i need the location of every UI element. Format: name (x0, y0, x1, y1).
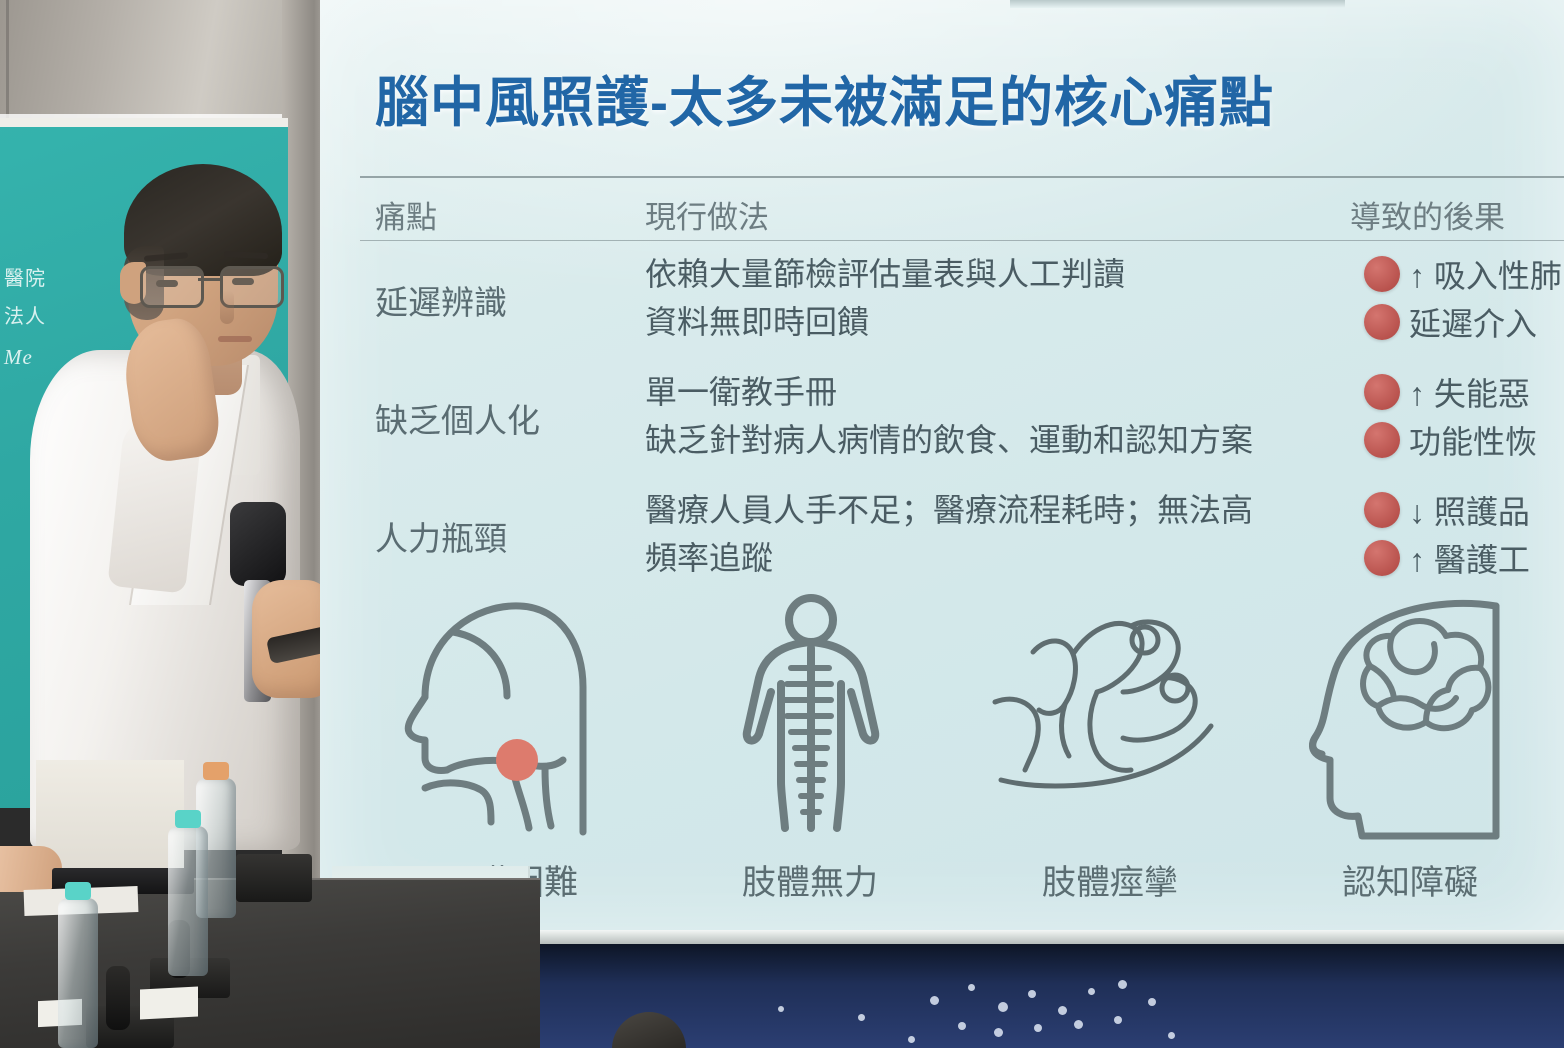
slide-title: 腦中風照護-太多未被滿足的核心痛點 (375, 58, 1564, 137)
name-card (140, 986, 198, 1019)
microphone-head (230, 502, 286, 586)
consequence-item: ↓ 照護品 (1364, 486, 1564, 534)
consequence-text: ↓ 照護品 (1409, 487, 1530, 533)
backdrop-dot-pattern (528, 944, 1564, 1048)
consequence-text: 功能性恢 (1409, 417, 1537, 463)
table-header-rule (360, 240, 1564, 241)
symptom-label: 肢體痙攣 (960, 855, 1260, 904)
glasses (138, 266, 284, 306)
water-bottle (168, 826, 208, 976)
head-brain-icon (1260, 592, 1560, 862)
spastic-hand-icon (960, 592, 1260, 862)
table-top-rule (360, 176, 1564, 178)
stage-backdrop (528, 944, 1564, 1048)
red-bullet-icon (1364, 304, 1400, 340)
consequence-item: ↑ 吸入性肺 (1364, 250, 1564, 298)
consequence-text: ↑ 失能惡 (1409, 369, 1530, 415)
head-swallowing-icon (360, 592, 660, 862)
column-header-current-practice: 現行做法 (645, 192, 769, 237)
red-bullet-icon (1364, 540, 1400, 576)
consequence-text: 延遲介入 (1409, 299, 1537, 345)
table-cell-practice: 依賴大量篩檢評估量表與人工判讀 資料無即時回饋 (645, 250, 1125, 346)
table-cell-consequence: ↓ 照護品 ↑ 醫護工 (1364, 486, 1564, 582)
table-cell-consequence: ↑ 吸入性肺 延遲介入 (1364, 250, 1564, 346)
practice-line: 醫療人員人手不足；醫療流程耗時；無法高 (645, 486, 1253, 534)
table-cell-consequence: ↑ 失能惡 功能性恢 (1364, 368, 1564, 464)
table-cell-practice: 醫療人員人手不足；醫療流程耗時；無法高 頻率追蹤 (645, 486, 1253, 582)
symptom-label: 肢體無力 (660, 855, 960, 904)
red-bullet-icon (1364, 256, 1400, 292)
bottle-cap (203, 762, 229, 780)
symptom-icon-row (360, 592, 1564, 862)
consequence-item: 延遲介入 (1364, 298, 1564, 346)
table-row: 延遲辨識 (375, 276, 507, 324)
microphone-base (236, 854, 312, 902)
practice-line: 單一衛教手冊 (645, 368, 1253, 416)
consequence-item: ↑ 失能惡 (1364, 368, 1564, 416)
practice-line: 缺乏針對病人病情的飲食、運動和認知方案 (645, 416, 1253, 464)
red-bullet-icon (1364, 374, 1400, 410)
consequence-text: ↑ 醫護工 (1409, 535, 1530, 581)
bottle-cap (175, 810, 201, 828)
column-header-pain-point: 痛點 (375, 192, 437, 237)
wall-seam (6, 0, 9, 118)
speaker-person (20, 150, 320, 850)
nose (220, 290, 234, 324)
mouth (218, 336, 252, 342)
glasses-bridge (198, 278, 222, 281)
table-row: 缺乏個人化 (375, 394, 540, 442)
table-row: 人力瓶頸 (375, 512, 507, 560)
water-bottle (58, 898, 98, 1048)
practice-line: 頻率追蹤 (645, 534, 1253, 582)
red-bullet-icon (1364, 422, 1400, 458)
consequence-item: 功能性恢 (1364, 416, 1564, 464)
column-header-consequence: 導致的後果 (1350, 192, 1505, 237)
consequence-item: ↑ 醫護工 (1364, 534, 1564, 582)
glasses-lens (140, 266, 204, 308)
table-cell-practice: 單一衛教手冊 缺乏針對病人病情的飲食、運動和認知方案 (645, 368, 1253, 464)
symptom-label: 認知障礙 (1260, 855, 1560, 904)
desk-microphone (106, 966, 130, 1030)
red-bullet-icon (1364, 492, 1400, 528)
banner-top-strip (0, 118, 288, 127)
practice-line: 資料無即時回饋 (645, 298, 1125, 346)
body-spine-icon (660, 592, 960, 862)
bottle-cap (65, 882, 91, 900)
consequence-text: ↑ 吸入性肺 (1409, 251, 1562, 297)
practice-line: 依賴大量篩檢評估量表與人工判讀 (645, 250, 1125, 298)
screen-top-rail (1010, 0, 1345, 8)
presentation-photo: 醫院 法人 Me 腦中風照護-太多未被滿 (0, 0, 1564, 1048)
